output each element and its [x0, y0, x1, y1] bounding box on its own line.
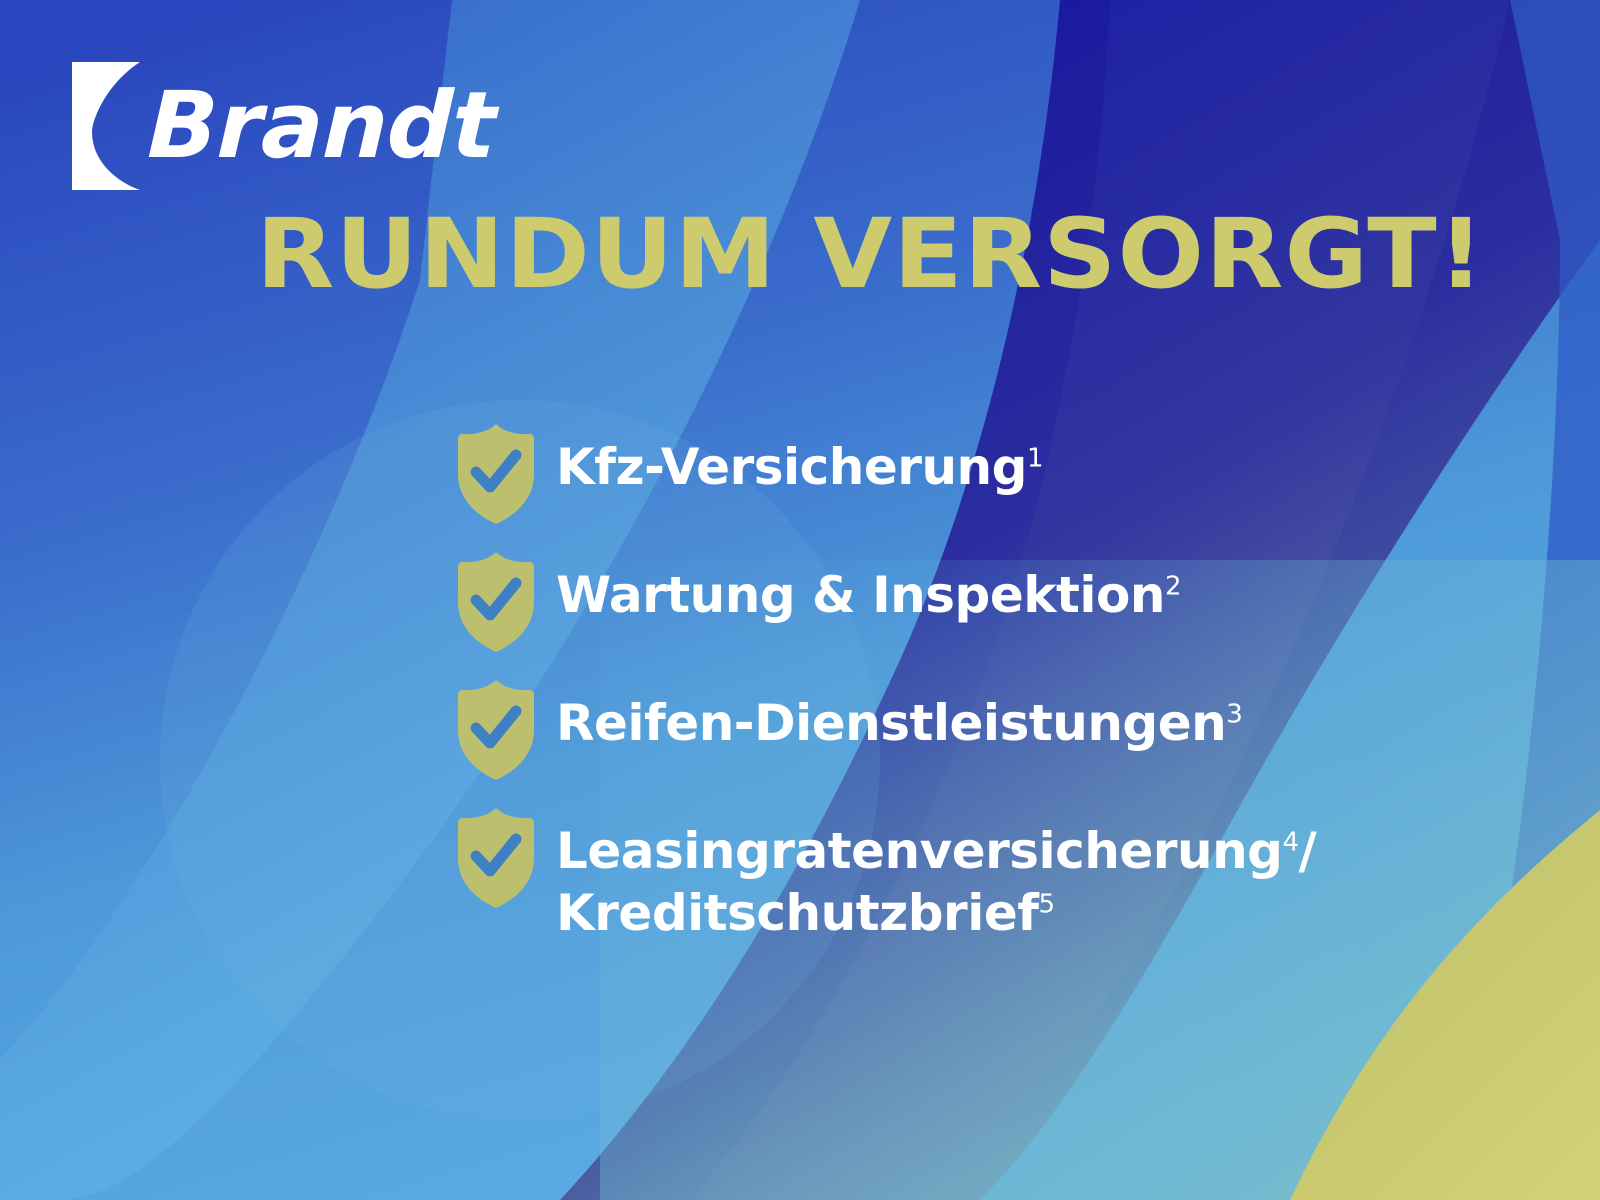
list-item: Leasingratenversicherung4/Kreditschutzbr…: [452, 802, 1512, 944]
footnote-marker: 2: [1165, 571, 1181, 601]
shield-check-icon: [452, 806, 540, 910]
page-title: RUNDUM VERSORGT!: [256, 206, 1485, 302]
brand-wordmark: Brandt: [146, 80, 496, 172]
bracket-crescent-mark: [72, 62, 140, 190]
shield-check-icon: [452, 678, 540, 782]
list-item-text: Kfz-Versicherung: [556, 438, 1027, 496]
footnote-marker: 1: [1027, 443, 1043, 473]
list-item-label: Wartung & Inspektion2: [556, 546, 1181, 626]
marketing-slide: Brandt RUNDUM VERSORGT! Kfz-Versicherung…: [0, 0, 1600, 1200]
list-item: Reifen-Dienstleistungen3: [452, 674, 1512, 802]
list-item-label: Kfz-Versicherung1: [556, 418, 1043, 498]
shield-check-icon: [452, 422, 540, 526]
feature-list: Kfz-Versicherung1 Wartung & Inspektion2 …: [452, 418, 1512, 944]
list-item-label: Leasingratenversicherung4/Kreditschutzbr…: [556, 802, 1316, 944]
footnote-marker-2: 5: [1039, 889, 1055, 919]
list-item: Wartung & Inspektion2: [452, 546, 1512, 674]
footnote-marker: 4: [1282, 827, 1298, 857]
footnote-marker: 3: [1226, 699, 1242, 729]
brand-logo: Brandt: [72, 56, 495, 196]
list-item-text: Reifen-Dienstleistungen: [556, 694, 1226, 752]
list-item-text-line2: Kreditschutzbrief: [556, 884, 1039, 942]
list-item: Kfz-Versicherung1: [452, 418, 1512, 546]
shield-check-icon: [452, 550, 540, 654]
list-item-text: Wartung & Inspektion: [556, 566, 1165, 624]
list-item-label: Reifen-Dienstleistungen3: [556, 674, 1242, 754]
list-item-text: Leasingratenversicherung: [556, 822, 1282, 880]
separator-slash: /: [1299, 822, 1317, 880]
